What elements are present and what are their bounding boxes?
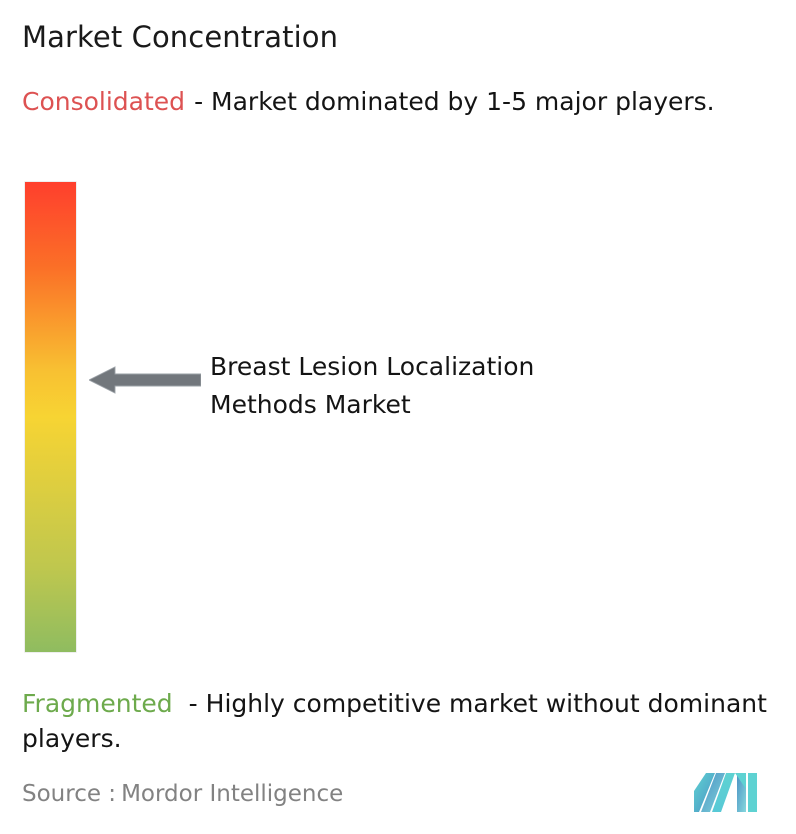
legend-consolidated: Consolidated- Market dominated by 1-5 ma… — [22, 84, 782, 119]
market-position-arrow-icon — [89, 366, 201, 394]
page-title: Market Concentration — [22, 18, 338, 56]
legend-description-consolidated: - Market dominated by 1-5 major players. — [194, 87, 715, 116]
market-callout-line-2: Methods Market — [210, 386, 730, 424]
market-callout-line-1: Breast Lesion Localization — [210, 348, 730, 386]
source-label: Source : — [22, 781, 116, 807]
legend-term-consolidated: Consolidated — [22, 87, 185, 116]
source-value: Mordor Intelligence — [121, 781, 343, 807]
market-callout-label: Breast Lesion Localization Methods Marke… — [210, 348, 730, 424]
source-attribution: Source :Mordor Intelligence — [22, 778, 343, 810]
market-concentration-chart: Market Concentration Consolidated- Marke… — [0, 0, 796, 834]
legend-fragmented: Fragmented- Highly competitive market wi… — [22, 686, 792, 756]
market-concentration-gradient-bar — [25, 182, 76, 652]
mordor-intelligence-logo — [694, 771, 762, 812]
legend-term-fragmented: Fragmented — [22, 689, 173, 718]
